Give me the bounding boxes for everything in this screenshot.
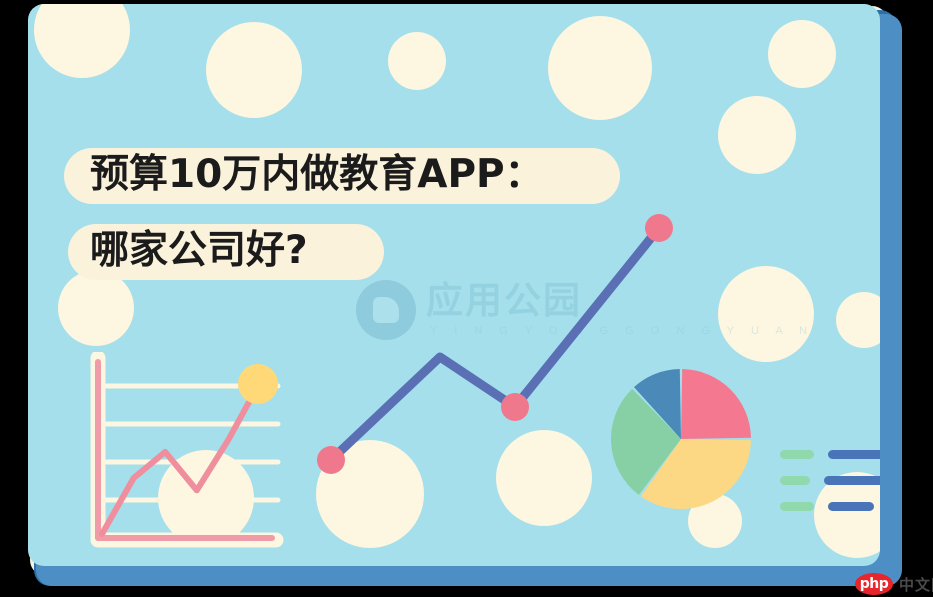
pie-slices-group xyxy=(611,369,751,509)
php-badge-word: 中文网 xyxy=(899,574,933,595)
pie-slice xyxy=(681,369,751,439)
legend-bar xyxy=(828,502,874,511)
headline-line-2: 哪家公司好? xyxy=(64,218,566,288)
legend-bars xyxy=(780,450,880,528)
poster-canvas: 应用公园 Y I N G Y O N G G O N G Y U A N xyxy=(0,0,933,597)
headline-row-2: 哪家公司好? xyxy=(64,218,566,288)
zigzag-data-point xyxy=(501,393,529,421)
legend-swatch xyxy=(780,476,810,485)
headline-block: 预算10万内做教育APP： 哪家公司好? xyxy=(64,142,566,294)
php-logo-icon: php xyxy=(855,573,893,595)
zigzag-data-point xyxy=(317,446,345,474)
mini-growth-line-chart xyxy=(76,352,298,564)
legend-row xyxy=(780,476,880,485)
legend-bar xyxy=(828,450,880,459)
category-pie-chart xyxy=(606,366,756,512)
legend-bar xyxy=(824,476,880,485)
main-card: 应用公园 Y I N G Y O N G G O N G Y U A N xyxy=(28,4,880,566)
zigzag-data-point xyxy=(645,214,673,242)
legend-swatch xyxy=(780,450,814,459)
legend-row xyxy=(780,502,880,511)
legend-row xyxy=(780,450,880,459)
legend-swatch xyxy=(780,502,814,511)
headline-line-1: 预算10万内做教育APP： xyxy=(64,142,566,212)
mini-chart-line xyxy=(102,382,260,534)
headline-row-1: 预算10万内做教育APP： xyxy=(64,142,566,212)
mini-chart-peak-marker xyxy=(238,364,278,404)
php-watermark-badge: php 中文网 xyxy=(855,573,933,595)
